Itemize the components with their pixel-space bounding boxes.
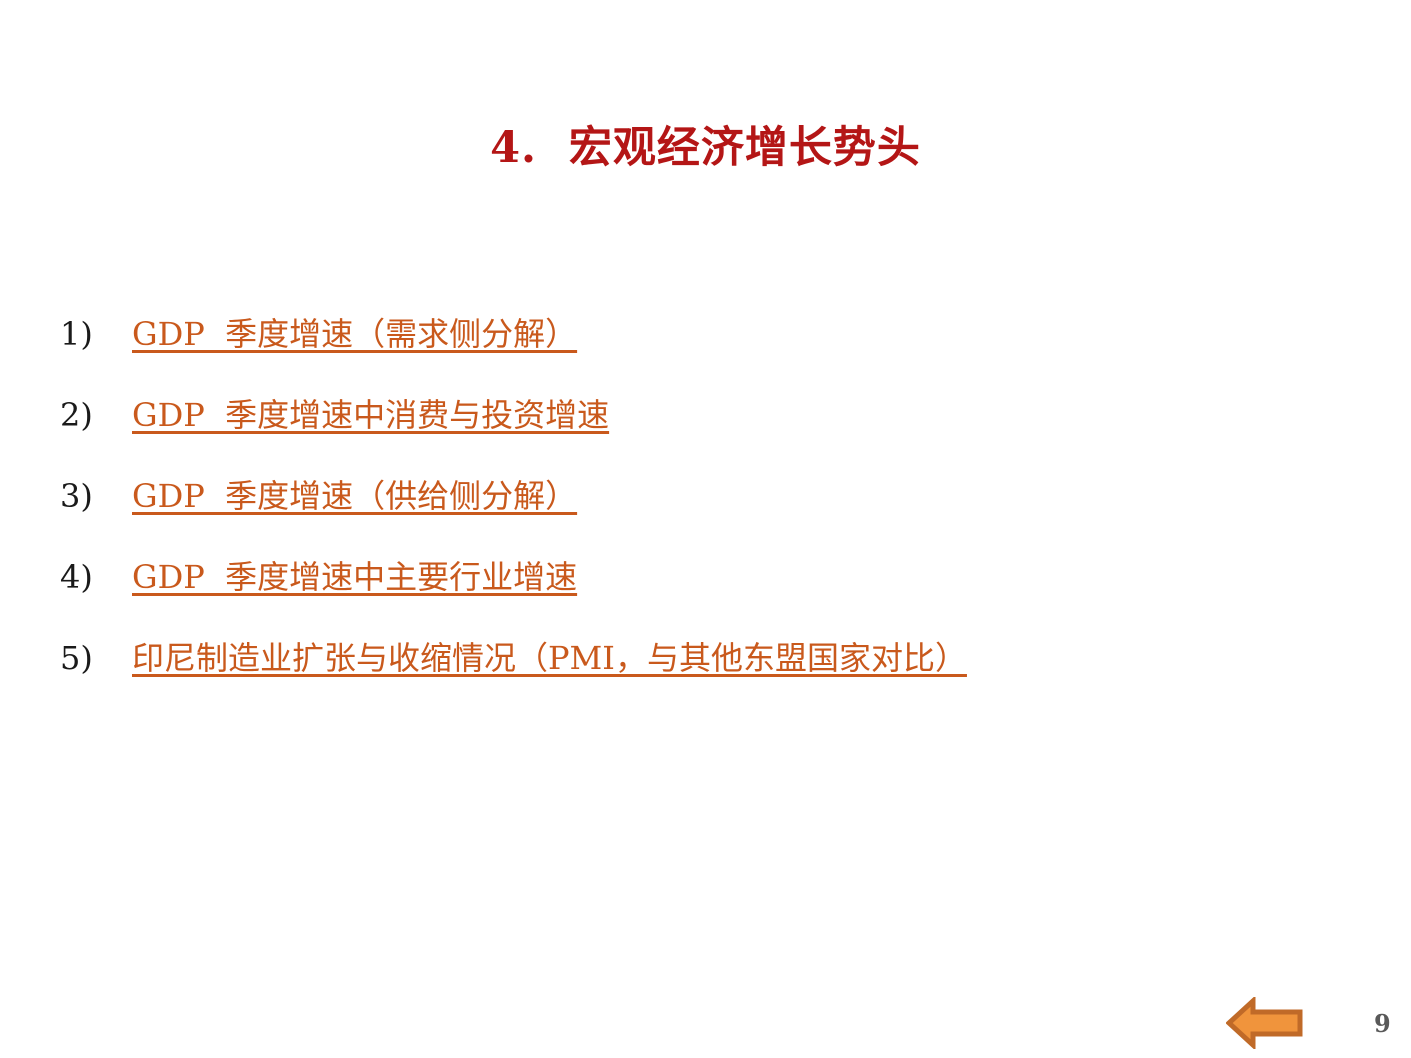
agenda-link-gdp-consumption-investment[interactable]: GDP 季度增速中消费与投资增速	[132, 393, 609, 437]
list-item: 3) GDP 季度增速（供给侧分解）	[60, 474, 1350, 555]
arrow-left-icon	[1226, 997, 1304, 1049]
list-item: 5) 印尼制造业扩张与收缩情况（PMI，与其他东盟国家对比）	[60, 636, 1350, 717]
agenda-link-gdp-quarterly-supply-side[interactable]: GDP 季度增速（供给侧分解）	[132, 474, 577, 518]
list-item: 1) GDP 季度增速（需求侧分解）	[60, 312, 1350, 393]
list-item-marker-5: 5)	[60, 636, 132, 680]
list-item-marker-4: 4)	[60, 555, 132, 599]
list-item-marker-3: 3)	[60, 474, 132, 518]
page-title: 4. 宏观经济增长势头	[0, 124, 1411, 173]
back-button[interactable]	[1226, 997, 1304, 1049]
agenda-link-gdp-major-industries[interactable]: GDP 季度增速中主要行业增速	[132, 555, 577, 599]
page-number: 9	[1374, 1009, 1404, 1039]
list-item-marker-1: 1)	[60, 312, 132, 356]
agenda-list: 1) GDP 季度增速（需求侧分解） 2) GDP 季度增速中消费与投资增速 3…	[60, 312, 1350, 717]
list-item: 2) GDP 季度增速中消费与投资增速	[60, 393, 1350, 474]
list-item-marker-2: 2)	[60, 393, 132, 437]
list-item: 4) GDP 季度增速中主要行业增速	[60, 555, 1350, 636]
agenda-link-gdp-quarterly-demand-side[interactable]: GDP 季度增速（需求侧分解）	[132, 312, 577, 356]
agenda-link-indonesia-pmi[interactable]: 印尼制造业扩张与收缩情况（PMI，与其他东盟国家对比）	[132, 636, 967, 680]
slide-canvas: 4. 宏观经济增长势头 1) GDP 季度增速（需求侧分解） 2) GDP 季度…	[0, 0, 1411, 1058]
